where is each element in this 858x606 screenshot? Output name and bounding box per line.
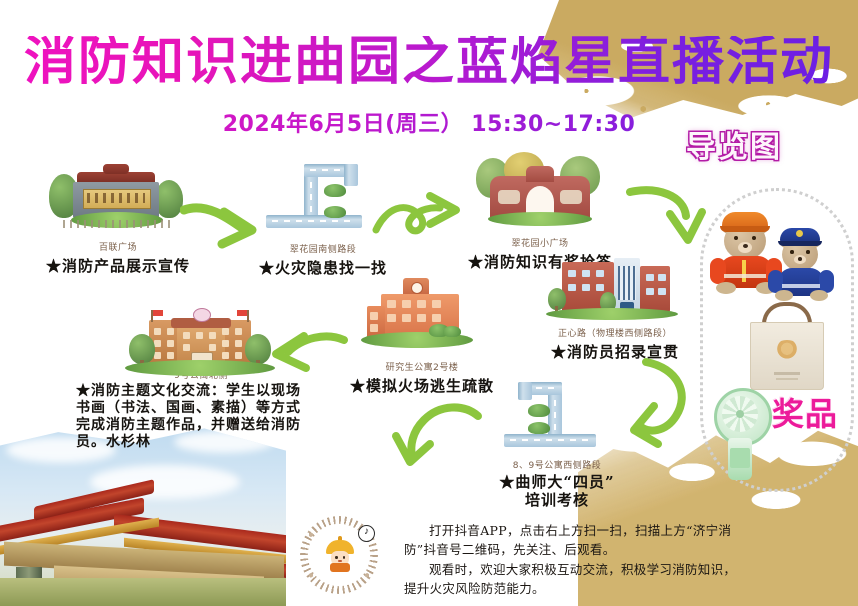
station-7-activity: ★消防主题文化交流：学生以现场书画（书法、国画、素描）等方式完成消防主题作品，并… [76,383,310,451]
flow-arrow-3 [624,184,710,266]
prize-label: 奖品 [772,398,838,432]
gate-plaza-icon [43,158,193,238]
station-3[interactable]: 翠花园小广场 ★消防知识有奖抢答 [440,152,640,272]
poster-canvas: 消防知识进曲园之蓝焰星直播活动 2024年6月5日(周三） 15:30~17:3… [0,0,858,606]
footer-line-1: 打开抖音APP，点击右上方扫一扫，扫描上方“济宁消防”抖音号二维码，先关注、后观… [404,521,740,560]
station-1-activity: ★消防产品展示宣传 [18,255,218,276]
flow-arrow-5 [390,400,486,470]
apartment-building-icon [101,302,301,380]
station-6[interactable]: 研究生公寓2号楼 ★模拟火场逃生疏散 [332,276,512,396]
station-4[interactable]: 正心路（物理楼西侧路段） ★消防员招录宣贯 [520,258,710,362]
station-5-activity: ★曲师大“四员”培训考核 [462,473,652,509]
archway-pavilion-icon [460,152,620,234]
handheld-fan [708,388,772,484]
footer-line-2: 观看时，欢迎大家积极互动交流，积极学习消防知识，提升火灾风险防范能力。 [404,560,740,599]
guide-map-badge: 导览图 [686,122,782,166]
station-4-location: 正心路（物理楼西侧路段） [520,326,710,339]
station-2-activity: ★火灾隐患找一找 [228,257,418,278]
dormitory-building-icon [347,276,497,358]
footer-instructions: 打开抖音APP，点击右上方扫一扫，扫描上方“济宁消防”抖音号二维码，先关注、后观… [404,521,740,599]
douyin-music-note-icon: ♪ [358,525,375,542]
station-7[interactable]: 9号公寓北侧 ★消防主题文化交流：学生以现场书画（书法、国画、素描）等方式完成消… [76,302,326,451]
canvas-tote-bag [740,302,832,394]
station-5[interactable]: 8、9号公寓西侧路段 ★曲师大“四员”培训考核 [462,378,652,509]
douyin-qr-code[interactable]: ♪ [300,516,378,594]
page-title: 消防知识进曲园之蓝焰星直播活动 [0,36,858,88]
physics-building-icon [540,258,690,324]
teddy-bear-police [772,226,836,302]
station-5-location: 8、9号公寓西侧路段 [462,458,652,471]
station-6-location: 研究生公寓2号楼 [332,360,512,373]
firefighter-avatar-icon [326,540,354,572]
station-6-activity: ★模拟火场逃生疏散 [332,375,512,396]
station-3-location: 翠花园小广场 [440,236,640,249]
